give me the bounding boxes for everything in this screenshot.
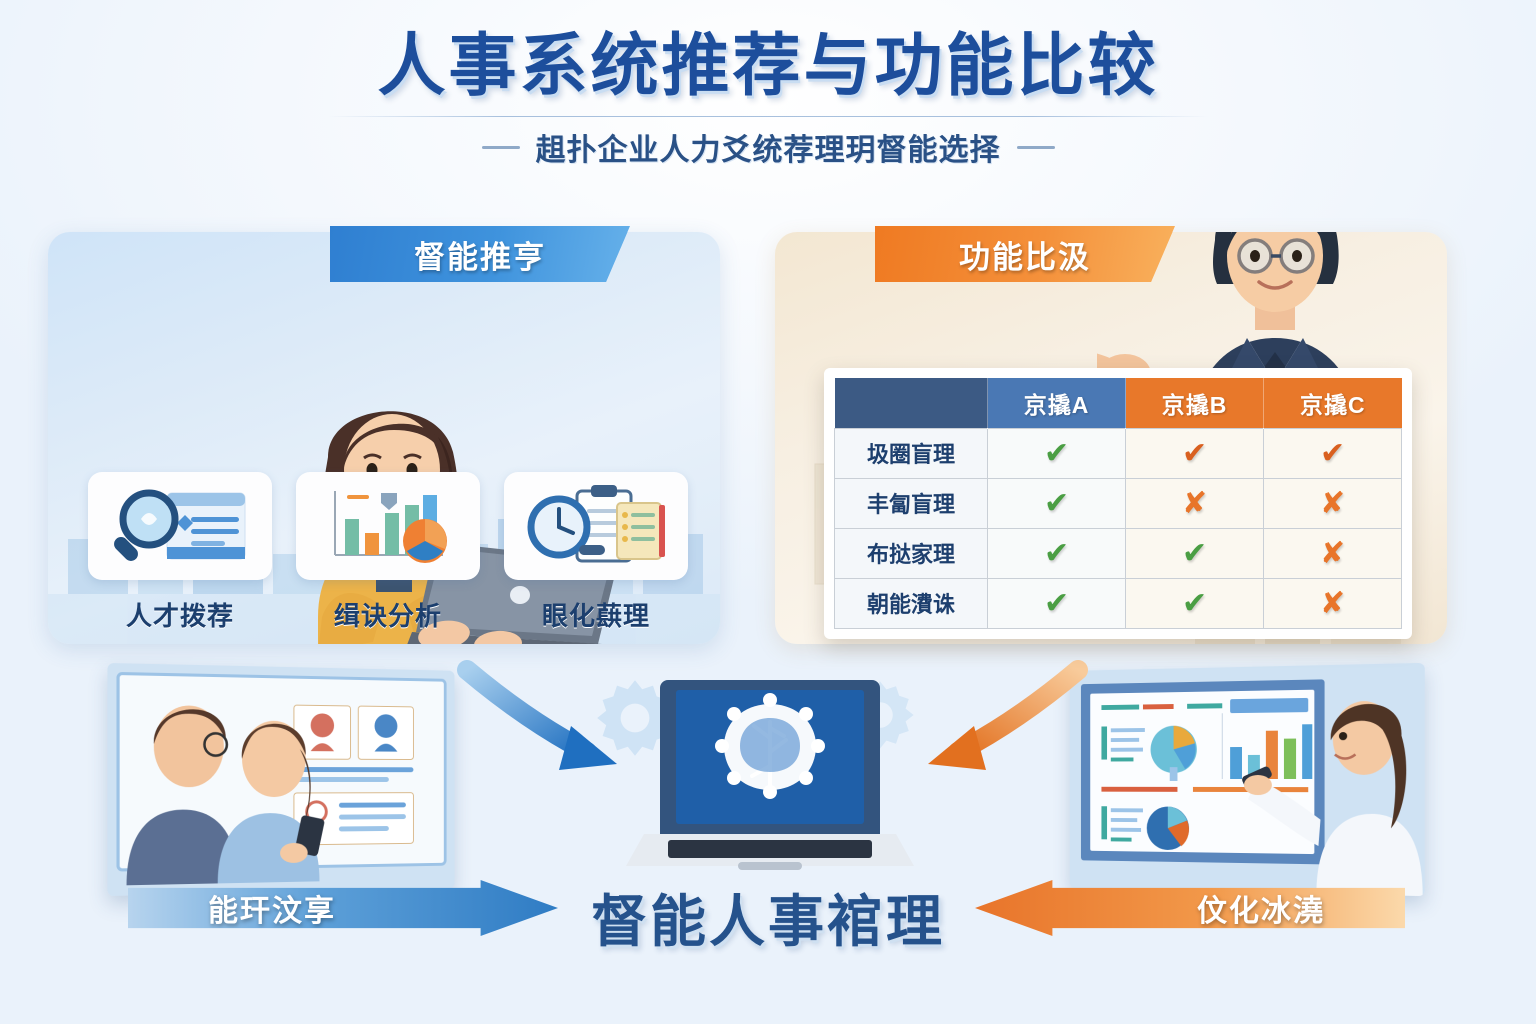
table-cell-r3c3: ✘ <box>1264 528 1402 578</box>
table-row-label-3: 布挞家理 <box>835 528 988 578</box>
table-cell-r1c1: ✔ <box>988 428 1126 478</box>
cross-icon: ✘ <box>1320 587 1345 620</box>
table-row-label-4: 朝能㵒诛 <box>835 578 988 628</box>
feature-comparison-table-card: 京撬A 京撬B 京撬C 圾圈盲理 ✔ ✔ ✔ 丰匐盲理 ✔ ✘ ✘ 布挞家理 ✔… <box>824 368 1412 639</box>
subtitle-row: 趄扑企业人力爻统荐理玥督能选择 <box>0 125 1536 169</box>
feature-card-talent-matching[interactable] <box>88 472 272 580</box>
check-icon: ✔ <box>1044 537 1069 570</box>
check-icon: ✔ <box>1044 437 1069 470</box>
table-column-header-c: 京撬C <box>1264 378 1402 428</box>
cross-icon: ✘ <box>1182 487 1207 520</box>
feature-card-row <box>88 472 688 580</box>
table-column-header-b: 京撬B <box>1126 378 1264 428</box>
feature-label-talent-matching: 人才拨荐 <box>88 596 272 633</box>
feature-label-row: 人才拨荐 缉诀分析 眼化蕻理 <box>88 596 688 633</box>
check-icon: ✔ <box>1044 487 1069 520</box>
table-column-header-a: 京撬A <box>988 378 1126 428</box>
comparison-badge: 功能比汲 <box>875 226 1175 282</box>
analytics-dashboard-screen <box>1070 663 1425 896</box>
bottom-center-title: 督能人事䘾理 <box>0 877 1536 958</box>
table-row: 圾圈盲理 ✔ ✔ ✔ <box>835 428 1402 478</box>
page-header: 人事系统推荐与功能比较 趄扑企业人力爻统荐理玥督能选择 <box>0 28 1536 169</box>
bar-pie-chart-icon <box>313 483 463 569</box>
candidate-review-screen <box>107 663 454 896</box>
table-row: 布挞家理 ✔ ✔ ✘ <box>835 528 1402 578</box>
right-to-center-arrow-icon <box>890 660 1090 790</box>
title-divider <box>328 116 1208 117</box>
check-icon: ✔ <box>1182 437 1207 470</box>
table-header-row: 京撬A 京撬B 京撬C <box>835 378 1402 428</box>
table-row: 朝能㵒诛 ✔ ✔ ✘ <box>835 578 1402 628</box>
cross-icon: ✘ <box>1320 537 1345 570</box>
page-subtitle: 趄扑企业人力爻统荐理玥督能选择 <box>536 125 1001 169</box>
table-cell-r1c2: ✔ <box>1126 428 1264 478</box>
table-cell-r4c2: ✔ <box>1126 578 1264 628</box>
intelligent-recommendation-badge: 督能推亨 <box>330 226 630 282</box>
page-title: 人事系统推荐与功能比较 <box>0 28 1536 104</box>
two-people-viewing-candidate-screen <box>107 663 454 896</box>
check-icon: ✔ <box>1044 587 1069 620</box>
clock-clipboard-icon <box>521 483 671 569</box>
table-cell-r2c1: ✔ <box>988 478 1126 528</box>
table-cell-r3c2: ✔ <box>1126 528 1264 578</box>
woman-presenting-analytics-dashboard <box>1070 663 1425 896</box>
feature-card-process-management[interactable] <box>504 472 688 580</box>
subtitle-dash-left <box>482 146 520 149</box>
table-cell-r2c2: ✘ <box>1126 478 1264 528</box>
feature-card-data-analysis[interactable] <box>296 472 480 580</box>
subtitle-dash-right <box>1017 146 1055 149</box>
table-cell-r1c3: ✔ <box>1264 428 1402 478</box>
table-corner-cell <box>835 378 988 428</box>
magnifier-document-icon <box>105 483 255 569</box>
check-icon: ✔ <box>1320 437 1345 470</box>
table-row-label-1: 圾圈盲理 <box>835 428 988 478</box>
bottom-workflow-section: 能玕汶享 督能人事䘾理 伩化冰澆 <box>0 655 1536 985</box>
table-row: 丰匐盲理 ✔ ✘ ✘ <box>835 478 1402 528</box>
feature-label-data-analysis: 缉诀分析 <box>296 596 480 633</box>
cross-icon: ✘ <box>1320 487 1345 520</box>
comparison-table: 京撬A 京撬B 京撬C 圾圈盲理 ✔ ✔ ✔ 丰匐盲理 ✔ ✘ ✘ 布挞家理 ✔… <box>834 378 1402 629</box>
laptop-with-ai-brain <box>620 670 920 895</box>
intelligent-recommendation-panel: 督能推亨 <box>48 232 720 644</box>
left-to-center-arrow-icon <box>455 660 655 790</box>
check-icon: ✔ <box>1182 537 1207 570</box>
table-row-label-2: 丰匐盲理 <box>835 478 988 528</box>
feature-label-process-management: 眼化蕻理 <box>504 596 688 633</box>
table-cell-r4c3: ✘ <box>1264 578 1402 628</box>
table-cell-r2c3: ✘ <box>1264 478 1402 528</box>
table-cell-r4c1: ✔ <box>988 578 1126 628</box>
table-cell-r3c1: ✔ <box>988 528 1126 578</box>
check-icon: ✔ <box>1182 587 1207 620</box>
